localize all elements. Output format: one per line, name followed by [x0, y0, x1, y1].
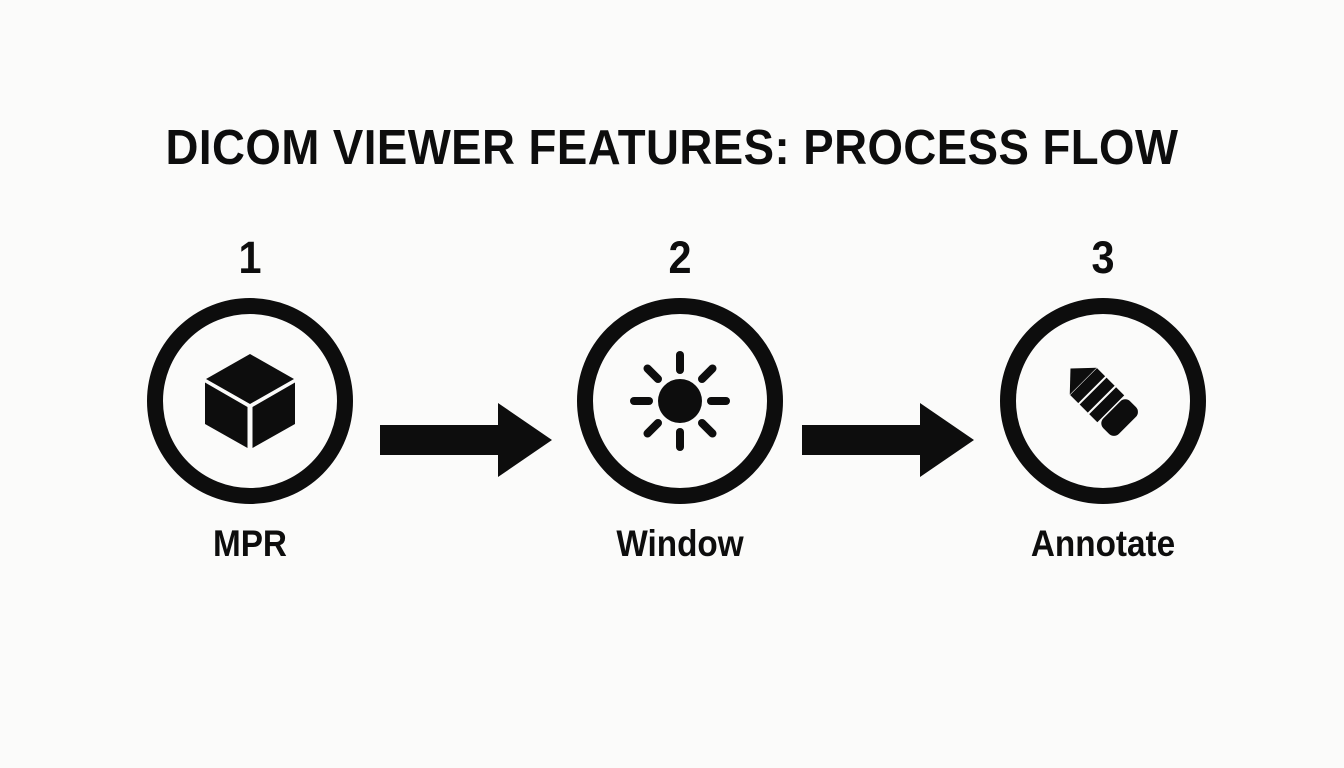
diagram-canvas: DICOM VIEWER FEATURES: PROCESS FLOW 1 — [0, 0, 1344, 768]
flow-step-3[interactable]: 3 — [953, 235, 1253, 585]
cube-icon — [195, 346, 305, 456]
pencil-icon — [1048, 346, 1158, 456]
step-number-3: 3 — [965, 235, 1241, 283]
step-label-2: Window — [545, 525, 815, 562]
brightness-sun-icon — [625, 346, 735, 456]
step-label-3: Annotate — [968, 525, 1238, 562]
step-icon-circle-2[interactable] — [577, 298, 783, 504]
page-title: DICOM VIEWER FEATURES: PROCESS FLOW — [47, 124, 1297, 173]
step-icon-circle-3[interactable] — [1000, 298, 1206, 504]
step-label-1: MPR — [115, 525, 385, 562]
step-icon-circle-1[interactable] — [147, 298, 353, 504]
process-flow: 1 MPR — [0, 235, 1344, 585]
step-number-2: 2 — [542, 235, 818, 283]
flow-step-1[interactable]: 1 MPR — [100, 235, 400, 585]
flow-step-2[interactable]: 2 — [530, 235, 830, 585]
arrow-right-icon-1 — [380, 403, 552, 477]
arrow-right-icon-2 — [802, 403, 974, 477]
step-number-1: 1 — [112, 235, 388, 283]
